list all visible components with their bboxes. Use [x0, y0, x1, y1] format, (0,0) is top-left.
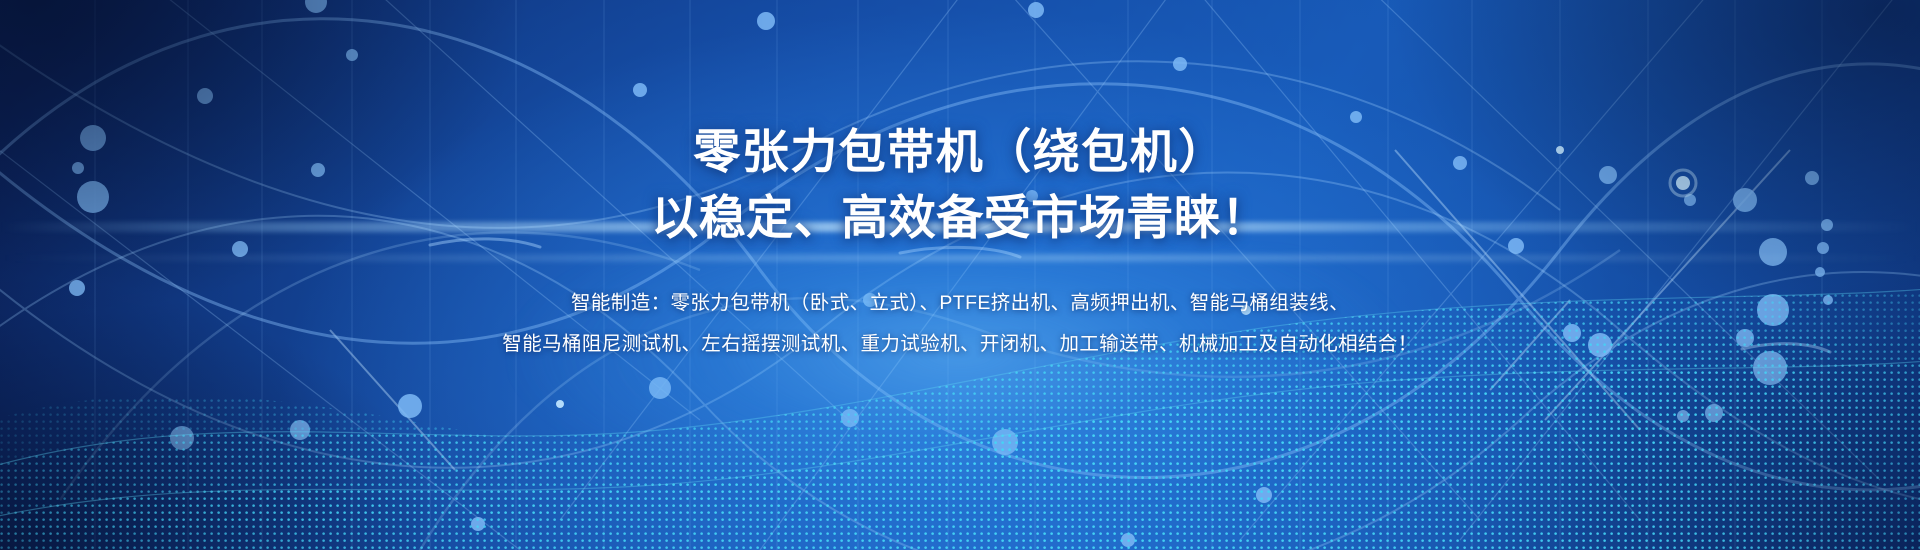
headline-line-2: 以稳定、高效备受市场青睐！	[0, 185, 1920, 251]
headline-line-1: 零张力包带机（绕包机）	[0, 119, 1920, 185]
page-title: 零张力包带机（绕包机） 以稳定、高效备受市场青睐！	[0, 119, 1920, 251]
banner-content: 零张力包带机（绕包机） 以稳定、高效备受市场青睐！ 智能制造：零张力包带机（卧式…	[0, 88, 1920, 365]
subtext-line-2: 智能马桶阻尼测试机、左右摇摆测试机、重力试验机、开闭机、加工输送带、机械加工及自…	[0, 324, 1920, 365]
promo-banner: 零张力包带机（绕包机） 以稳定、高效备受市场青睐！ 智能制造：零张力包带机（卧式…	[0, 0, 1920, 550]
subtext-line-1: 智能制造：零张力包带机（卧式、立式）、PTFE挤出机、高频押出机、智能马桶组装线…	[0, 283, 1920, 324]
banner-subtext: 智能制造：零张力包带机（卧式、立式）、PTFE挤出机、高频押出机、智能马桶组装线…	[0, 283, 1920, 365]
